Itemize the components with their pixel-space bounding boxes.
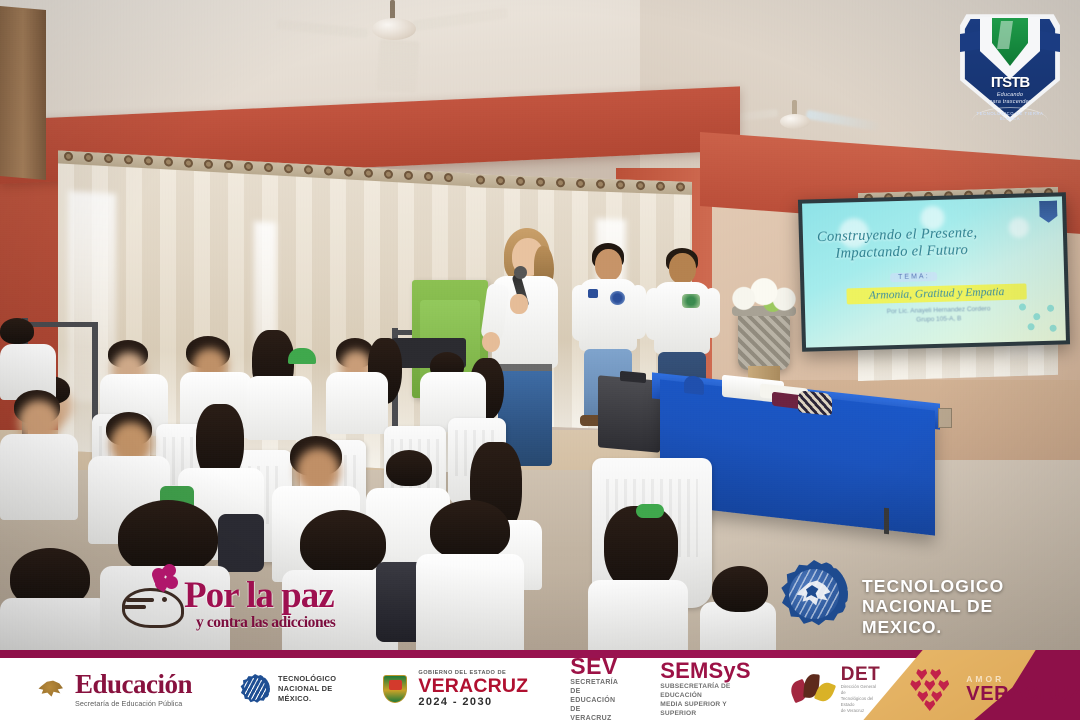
paz-subtitle: y contra las adicciones (196, 614, 335, 632)
screenshot-root: Construyendo el Presente, Impactando el … (0, 0, 1080, 720)
tecnm-line2: NACIONAL DE MEXICO. (862, 596, 1060, 638)
logo-amor-veracruz: AMOR VERACRUZ (908, 658, 1080, 720)
amor-title: VERACRUZ (966, 684, 1080, 705)
por-la-paz-logo: Por la paz y contra las adicciones (118, 566, 380, 638)
amor-kicker: AMOR (966, 674, 1080, 684)
flower-icon (152, 564, 182, 592)
patterned-bag (798, 390, 832, 416)
arm-right (630, 285, 646, 339)
polo-logo-left (588, 289, 598, 298)
microphone-head (514, 266, 527, 279)
flower-basket (738, 310, 790, 370)
sep-title: Educación (75, 671, 192, 698)
small-device (620, 371, 646, 383)
institutional-logo-banner: Educación Secretaría de Educación Públic… (0, 650, 1080, 720)
green-hairband-icon (636, 504, 664, 518)
tecnm-gear-icon (240, 674, 270, 704)
semsys-title: SEMSyS (660, 660, 750, 682)
polo-logo-center (610, 291, 625, 305)
slide-corner-logo (1039, 201, 1058, 223)
tecnm-watermark: TECNOLOGICO NACIONAL DE MEXICO. (780, 560, 1060, 630)
white-polo (654, 282, 710, 354)
veracruz-years: 2024 - 2030 (418, 696, 528, 708)
tecnm-line1: TECNOLOGICO (862, 576, 1004, 597)
itstb-badge-logo: ITSTB Educando para trascender TECNOLOGI… (954, 8, 1066, 126)
badge-tagline: Educando para trascender (954, 92, 1066, 106)
logo-tecnm: TECNOLÓGICO NACIONAL DE MÉXICO. (240, 658, 336, 720)
logo-det: DET Dirección General de Tecnológicos de… (791, 658, 881, 720)
wooden-post (0, 6, 46, 180)
slide-byline: Por Lic. Anayeli Hernandez Cordero Grupo… (851, 303, 1026, 326)
sev-title: SEV (570, 655, 618, 678)
det-subtitle: Dirección General de Tecnológicos del Es… (841, 684, 881, 714)
polo-logo (682, 294, 700, 308)
green-cap-icon (288, 348, 316, 364)
arm-left (572, 285, 588, 341)
sep-subtitle: Secretaría de Educación Pública (75, 699, 192, 708)
badge-arc: TECNOLOGICO DE TIERRA BLANCA (972, 107, 1048, 121)
paz-title: Por la paz (184, 574, 334, 617)
arm-right (704, 288, 720, 338)
event-photograph: Construyendo el Presente, Impactando el … (0, 0, 1080, 650)
logo-veracruz: GOBIERNO DEL ESTADO DE VERACRUZ 2024 - 2… (380, 658, 528, 720)
projector-screen: Construyendo el Presente, Impactando el … (798, 192, 1070, 351)
wall-outlet (938, 408, 952, 428)
logo-sev: SEV SECRETARÍA DE EDUCACIÓN DE VERACRUZ (570, 658, 618, 720)
mexican-eagle-seal-icon (34, 677, 68, 701)
tecnm-label: TECNOLÓGICO NACIONAL DE MÉXICO. (278, 674, 336, 704)
slide-decor-dots (1019, 302, 1062, 337)
white-lilies (728, 278, 800, 312)
table-leg (884, 508, 889, 535)
veracruz-title: VERACRUZ (418, 676, 528, 696)
logo-semsys: SEMSyS SUBSECRETARÍA DE EDUCACIÓN MEDIA … (660, 658, 750, 720)
semsys-subtitle: SUBSECRETARÍA DE EDUCACIÓN MEDIA SUPERIO… (660, 682, 750, 718)
slide-highlight: Armonia, Gratitud y Empatia (846, 283, 1026, 304)
logo-sep: Educación Secretaría de Educación Públic… (34, 658, 192, 720)
badge-acronym: ITSTB (954, 74, 1066, 91)
tecnm-gear-icon (780, 560, 848, 628)
arm-left (646, 288, 662, 340)
head (669, 253, 696, 284)
veracruz-state-seal-icon (380, 673, 410, 705)
three-leaves-icon (791, 673, 835, 705)
audience-front-row (0, 470, 760, 650)
heart-weave-icon (908, 667, 962, 711)
det-title: DET (841, 665, 881, 684)
head (595, 249, 622, 281)
sev-subtitle: SECRETARÍA DE EDUCACIÓN DE VERACRUZ (570, 678, 618, 720)
slide-topic-label: TEMA: (890, 272, 938, 282)
hand-mic (510, 294, 528, 314)
slide-title: Construyendo el Presente, Impactando el … (817, 223, 1054, 264)
